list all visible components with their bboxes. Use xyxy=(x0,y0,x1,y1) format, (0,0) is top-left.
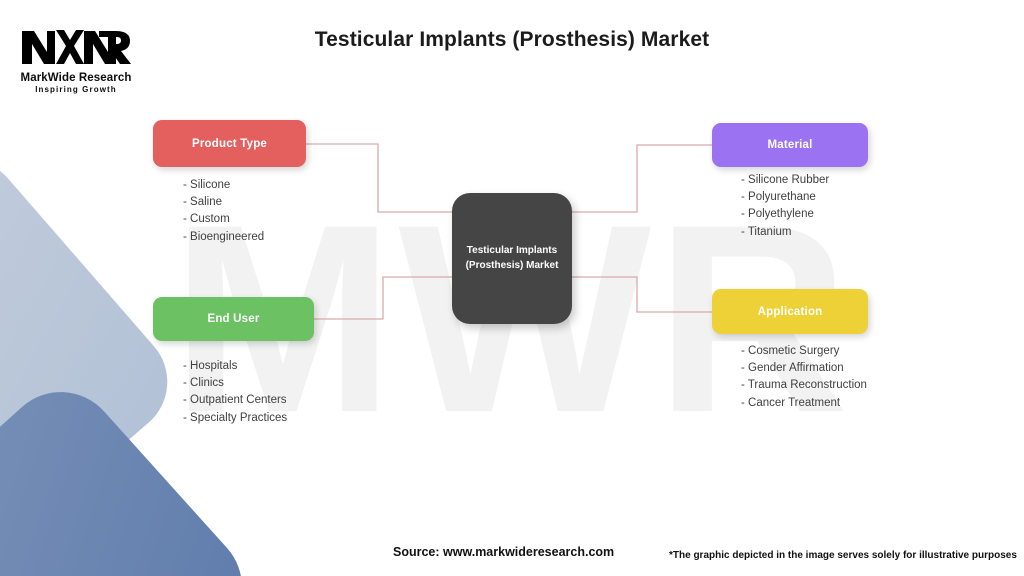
list-item: - Titanium xyxy=(741,224,829,241)
branch-items-application: - Cosmetic Surgery - Gender Affirmation … xyxy=(741,343,867,412)
list-item: - Polyurethane xyxy=(741,189,829,206)
list-item: - Cosmetic Surgery xyxy=(741,343,867,360)
footer-disclaimer: *The graphic depicted in the image serve… xyxy=(669,550,1017,561)
list-item: - Bioengineered xyxy=(183,229,264,246)
branch-label-product-type: Product Type xyxy=(192,138,267,150)
list-item: - Silicone Rubber xyxy=(741,172,829,189)
branch-items-product-type: - Silicone - Saline - Custom - Bioengine… xyxy=(183,177,264,246)
center-node-line2: (Prosthesis) Market xyxy=(466,259,559,274)
center-node-line1: Testicular Implants xyxy=(467,244,557,259)
list-item: - Polyethylene xyxy=(741,206,829,223)
branch-items-end-user: - Hospitals - Clinics - Outpatient Cente… xyxy=(183,358,287,427)
list-item: - Cancer Treatment xyxy=(741,395,867,412)
list-item: - Clinics xyxy=(183,375,287,392)
branch-label-application: Application xyxy=(758,306,823,318)
list-item: - Silicone xyxy=(183,177,264,194)
branch-node-end-user[interactable]: End User xyxy=(153,297,314,341)
branch-node-material[interactable]: Material xyxy=(712,123,868,167)
branch-node-application[interactable]: Application xyxy=(712,289,868,334)
list-item: - Custom xyxy=(183,211,264,228)
list-item: - Outpatient Centers xyxy=(183,392,287,409)
branch-items-material: - Silicone Rubber - Polyurethane - Polye… xyxy=(741,172,829,241)
list-item: - Hospitals xyxy=(183,358,287,375)
list-item: - Trauma Reconstruction xyxy=(741,377,867,394)
list-item: - Specialty Practices xyxy=(183,410,287,427)
branch-label-end-user: End User xyxy=(207,313,259,325)
infographic-canvas: MWR MarkWide Research Inspiring Growth T… xyxy=(0,0,1024,576)
branch-label-material: Material xyxy=(767,139,812,151)
list-item: - Gender Affirmation xyxy=(741,360,867,377)
branch-node-product-type[interactable]: Product Type xyxy=(153,120,306,167)
footer-source: Source: www.markwideresearch.com xyxy=(393,545,614,559)
center-node[interactable]: Testicular Implants (Prosthesis) Market xyxy=(452,193,572,324)
list-item: - Saline xyxy=(183,194,264,211)
